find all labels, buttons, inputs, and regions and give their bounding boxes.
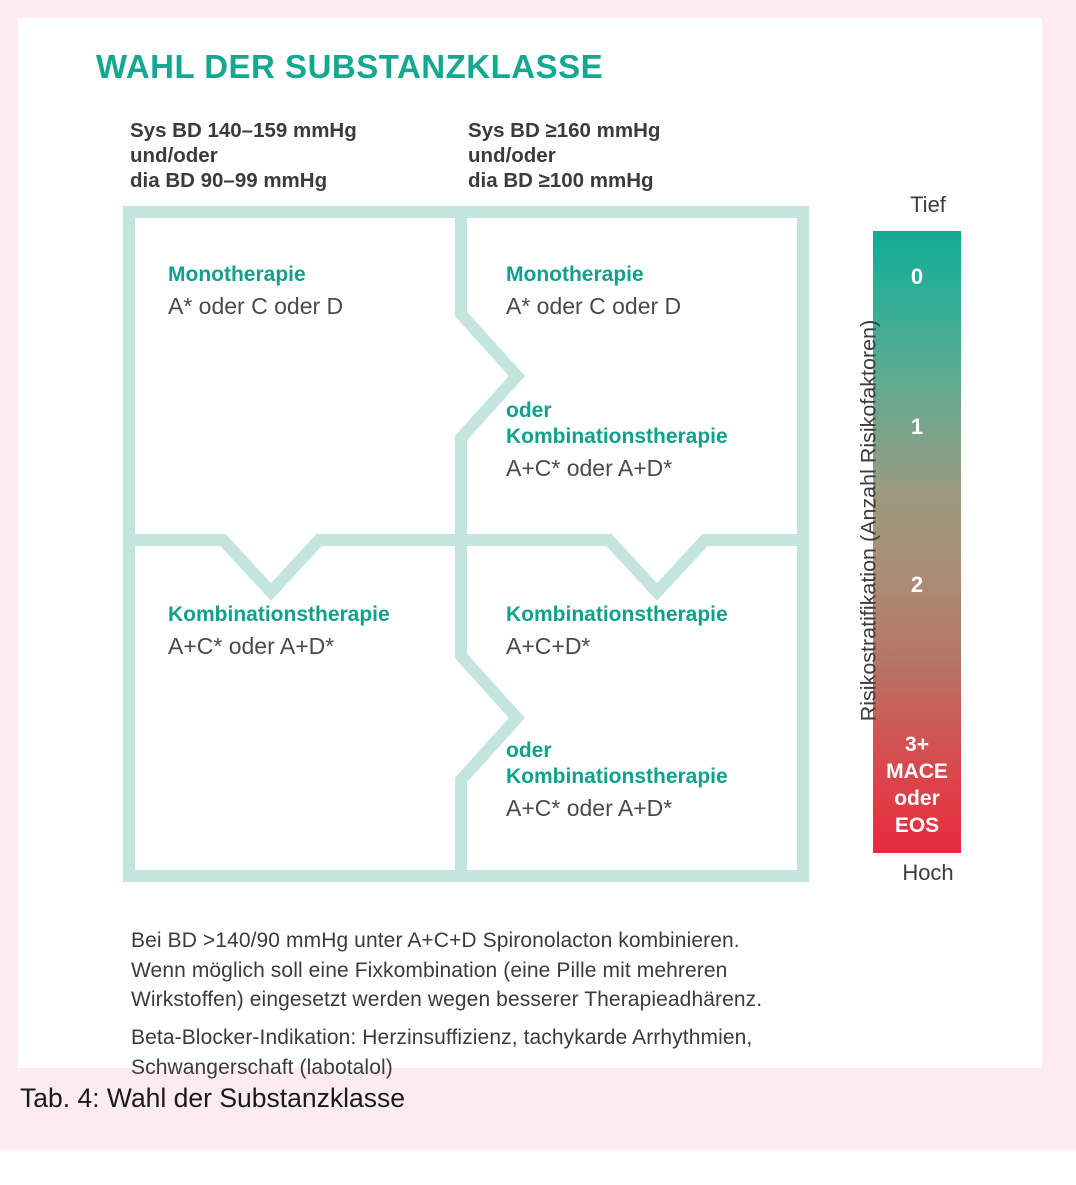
cell-bottom-right-body: A+C+D* <box>506 631 728 662</box>
cell-top-left: Monotherapie A* oder C oder D <box>168 262 343 322</box>
figure-caption: Tab. 4: Wahl der Substanzklasse <box>20 1083 405 1114</box>
column-header-left: Sys BD 140–159 mmHg und/oder dia BD 90–9… <box>130 118 357 193</box>
legend-tick-2: 2 <box>873 571 961 598</box>
cell-top-right-body: A* oder C oder D <box>506 291 681 322</box>
legend-low-label: Tief <box>873 192 983 218</box>
cell-bottom-left-body: A+C* oder A+D* <box>168 631 390 662</box>
footnote-beta-blocker: Beta-Blocker-Indikation: Herzinsuffizien… <box>131 1023 931 1082</box>
footnote-spironolacton: Bei BD >140/90 mmHg unter A+C+D Spironol… <box>131 926 931 1015</box>
footnote-1-line-2: Wenn möglich soll eine Fixkombination (e… <box>131 956 931 986</box>
column-header-left-line3: dia BD 90–99 mmHg <box>130 168 357 193</box>
legend-tick-3-plus: 3+MACEoderEOS <box>873 731 961 839</box>
cell-top-right-alt-heading-line1: oder <box>506 398 728 424</box>
cell-bottom-right-alt-heading-line1: oder <box>506 738 728 764</box>
column-header-left-line1: Sys BD 140–159 mmHg <box>130 118 357 143</box>
risk-gradient-bar: 0 1 2 3+MACEoderEOS <box>873 231 961 853</box>
figure-page: WAHL DER SUBSTANZKLASSE Sys BD 140–159 m… <box>0 0 1076 1185</box>
vertical-divider-bottom <box>461 540 517 876</box>
cell-top-right-alt-heading-line2: Kombinationstherapie <box>506 424 728 450</box>
column-header-right-line2: und/oder <box>468 143 660 168</box>
cell-top-right-alternative: oder Kombinationstherapie A+C* oder A+D* <box>506 398 728 484</box>
column-header-right-line1: Sys BD ≥160 mmHg <box>468 118 660 143</box>
cell-top-right-alt-body: A+C* oder A+D* <box>506 453 728 484</box>
legend-tick-0: 0 <box>873 263 961 290</box>
cell-top-right: Monotherapie A* oder C oder D <box>506 262 681 322</box>
footnote-2-line-2: Schwangerschaft (labotalol) <box>131 1053 931 1083</box>
column-header-left-line2: und/oder <box>130 143 357 168</box>
cell-top-left-heading: Monotherapie <box>168 262 343 288</box>
cell-bottom-left: Kombinationstherapie A+C* oder A+D* <box>168 602 390 662</box>
cell-bottom-right: Kombinationstherapie A+C+D* <box>506 602 728 662</box>
horizontal-divider-right <box>461 540 803 592</box>
footnote-2-line-1: Beta-Blocker-Indikation: Herzinsuffizien… <box>131 1023 931 1053</box>
column-header-right: Sys BD ≥160 mmHg und/oder dia BD ≥100 mm… <box>468 118 660 193</box>
legend-axis-label: Risikostratifikation (Anzahl Risikofakto… <box>857 286 882 756</box>
treatment-matrix: Monotherapie A* oder C oder D Monotherap… <box>123 206 809 882</box>
cell-top-left-body: A* oder C oder D <box>168 291 343 322</box>
page-title: WAHL DER SUBSTANZKLASSE <box>96 48 603 86</box>
cell-top-right-heading: Monotherapie <box>506 262 681 288</box>
figure-card: WAHL DER SUBSTANZKLASSE Sys BD 140–159 m… <box>18 18 1042 1068</box>
legend-tick-1: 1 <box>873 413 961 440</box>
risk-gradient-legend: Tief 0 1 2 3+MACEoderEOS Hoch Risikostra… <box>830 188 985 888</box>
cell-bottom-right-alternative: oder Kombinationstherapie A+C* oder A+D* <box>506 738 728 824</box>
column-header-right-line3: dia BD ≥100 mmHg <box>468 168 660 193</box>
footnote-1-line-1: Bei BD >140/90 mmHg unter A+C+D Spironol… <box>131 926 931 956</box>
cell-bottom-right-alt-heading-line2: Kombinationstherapie <box>506 764 728 790</box>
cell-bottom-right-heading: Kombinationstherapie <box>506 602 728 628</box>
cell-bottom-right-alt-body: A+C* oder A+D* <box>506 793 728 824</box>
legend-high-label: Hoch <box>873 860 983 886</box>
cell-bottom-left-heading: Kombinationstherapie <box>168 602 390 628</box>
footnote-1-line-3: Wirkstoffen) eingesetzt werden wegen bes… <box>131 985 931 1015</box>
horizontal-divider-left <box>129 540 461 592</box>
